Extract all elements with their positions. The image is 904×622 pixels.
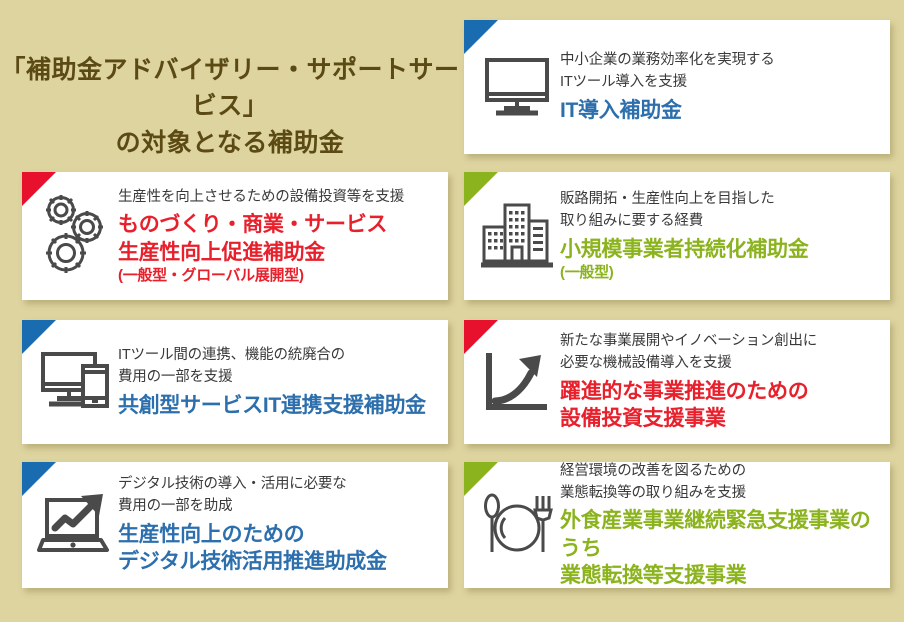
growth-arrow-icon [474,349,560,415]
card-description: 経営環境の改善を図るための 業態転換等の取り組みを支援 [560,462,878,504]
card-headline: IT導入補助金 [560,97,878,124]
laptop-chart-icon [32,492,118,558]
card-headline: 共創型サービスIT連携支援補助金 [118,392,436,419]
page-title-line1: 「補助金アドバイザリー・サポートサービス」 [0,52,460,125]
card-headline: ものづくり・商業・サービス 生産性向上促進補助金 [118,211,436,266]
subsidy-card-kyoso[interactable]: ITツール間の連携、機能の統廃合の 費用の一部を支援 共創型サービスIT連携支援… [22,320,448,444]
subsidy-card-monozukuri[interactable]: 生産性を向上させるための設備投資等を支援 ものづくり・商業・サービス 生産性向上… [22,172,448,300]
subsidy-card-shokibo[interactable]: 販路開拓・生産性向上を目指した 取り組みに要する経費 小規模事業者持続化補助金 … [464,172,890,300]
monitor-icon [474,56,560,118]
page-title: 「補助金アドバイザリー・サポートサービス」 の対象となる補助金 [0,52,460,161]
infographic-root: 「補助金アドバイザリー・サポートサービス」 の対象となる補助金 中小企業の業務効… [0,0,904,622]
card-subnote: (一般型・グローバル展開型) [118,266,436,286]
card-subnote: (一般型) [560,263,878,283]
card-description: 販路開拓・生産性向上を目指した 取り組みに要する経費 [560,189,878,233]
monitor-phone-icon [32,350,118,414]
subsidy-card-it-dounyu[interactable]: 中小企業の業務効率化を実現する ITツール導入を支援 IT導入補助金 [464,20,890,154]
gears-icon [32,194,118,278]
subsidy-card-gaishoku[interactable]: 経営環境の改善を図るための 業態転換等の取り組みを支援 外食産業事業継続緊急支援… [464,462,890,588]
card-headline: 外食産業事業継続緊急支援事業のうち 業態転換等支援事業 [560,507,878,588]
card-description: 中小企業の業務効率化を実現する ITツール導入を支援 [560,50,878,94]
card-headline: 小規模事業者持続化補助金 [560,236,878,263]
buildings-icon [474,199,560,273]
card-description: 生産性を向上させるための設備投資等を支援 [118,187,436,209]
subsidy-card-digital[interactable]: デジタル技術の導入・活用に必要な 費用の一部を助成 生産性向上のための デジタル… [22,462,448,588]
card-description: ITツール間の連携、機能の統廃合の 費用の一部を支援 [118,345,436,389]
subsidy-card-yakushin[interactable]: 新たな事業展開やイノベーション創出に 必要な機械設備導入を支援 躍進的な事業推進… [464,320,890,444]
page-title-line2: の対象となる補助金 [0,125,460,161]
card-description: 新たな事業展開やイノベーション創出に 必要な機械設備導入を支援 [560,331,878,375]
card-headline: 躍進的な事業推進のための 設備投資支援事業 [560,378,878,433]
card-description: デジタル技術の導入・活用に必要な 費用の一部を助成 [118,474,436,518]
card-headline: 生産性向上のための デジタル技術活用推進助成金 [118,521,436,576]
plate-cutlery-icon [474,490,560,560]
